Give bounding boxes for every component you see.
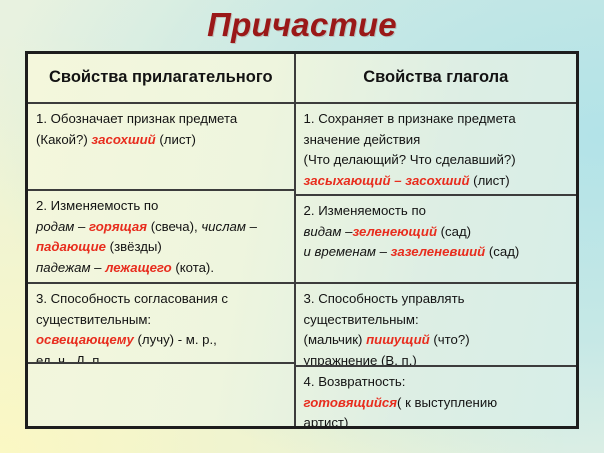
text-run: (мальчик) <box>304 332 367 347</box>
text-run: (Что делающий? Что сделавший?) <box>304 152 516 167</box>
text-line: видам –зеленеющий (сад) <box>304 222 570 243</box>
highlighted-term: лежащего <box>105 260 172 275</box>
text-run: 2. Изменяемость по <box>36 198 158 213</box>
text-run: (лист) <box>156 132 196 147</box>
text-line: готовящийся( к выступлению <box>304 393 570 414</box>
text-run: ед. ч., Д. п. <box>36 353 103 365</box>
text-run: ( к выступлению <box>397 395 497 410</box>
text-line: существительным: <box>36 310 288 331</box>
text-run: 4. Возвратность: <box>304 374 406 389</box>
text-line: 4. Возвратность: <box>304 372 570 393</box>
italic-term: видам – <box>304 224 353 239</box>
table-cell-adj-2: 2. Изменяемость породам – горящая (свеча… <box>28 191 294 284</box>
table-cell-verb-4: 4. Возвратность:готовящийся( к выступлен… <box>296 367 576 426</box>
text-run: существительным: <box>36 312 151 327</box>
column-header-adjective: Свойства прилагательного <box>28 54 294 104</box>
text-line: падающие (звёзды) <box>36 237 288 258</box>
table-column-verb: Свойства глагола 1. Сохраняет в признаке… <box>296 54 576 426</box>
page-title: Причастие <box>0 2 604 48</box>
highlighted-term: пишущий <box>366 332 430 347</box>
text-run: (лучу) - м. р., <box>134 332 217 347</box>
text-line: 2. Изменяемость по <box>304 201 570 222</box>
italic-term: числам – <box>201 219 257 234</box>
text-line: значение действия <box>304 130 570 151</box>
table-cell-adj-empty <box>28 364 294 426</box>
text-run: 3. Способность согласования с <box>36 291 228 306</box>
text-line: и временам – зазеленевший (сад) <box>304 242 570 263</box>
text-run: упражнение (В. п.) <box>304 353 417 368</box>
text-run: (сад) <box>437 224 471 239</box>
text-run: (лист) <box>470 173 510 188</box>
text-line: засыхающий – засохший (лист) <box>304 171 570 192</box>
properties-table: Свойства прилагательного 1. Обозначает п… <box>25 51 579 429</box>
highlighted-term: горящая <box>89 219 147 234</box>
text-run: (свеча), <box>147 219 201 234</box>
column-header-verb: Свойства глагола <box>296 54 576 104</box>
highlighted-term: засохший <box>91 132 155 147</box>
highlighted-term: готовящийся <box>304 395 397 410</box>
table-cell-verb-3: 3. Способность управлятьсуществительным:… <box>296 284 576 367</box>
text-run: артист) <box>304 415 349 426</box>
italic-term: падежам – <box>36 260 105 275</box>
text-line: (мальчик) пишущий (что?) <box>304 330 570 351</box>
table-cell-adj-1: 1. Обозначает признак предмета(Какой?) з… <box>28 104 294 191</box>
highlighted-term: освещающему <box>36 332 134 347</box>
text-run: 3. Способность управлять <box>304 291 465 306</box>
text-run: (кота). <box>172 260 214 275</box>
table-column-adjective: Свойства прилагательного 1. Обозначает п… <box>28 54 296 426</box>
text-line: (Какой?) засохший (лист) <box>36 130 288 151</box>
text-line: падежам – лежащего (кота). <box>36 258 288 279</box>
text-line: артист) <box>304 413 570 426</box>
table-cell-verb-1: 1. Сохраняет в признаке предметазначение… <box>296 104 576 196</box>
highlighted-term: засыхающий – засохший <box>304 173 470 188</box>
text-line: (Что делающий? Что сделавший?) <box>304 150 570 171</box>
italic-term: и временам – <box>304 244 391 259</box>
text-run: существительным: <box>304 312 419 327</box>
text-run: 1. Сохраняет в признаке предмета <box>304 111 516 126</box>
text-line: освещающему (лучу) - м. р., <box>36 330 288 351</box>
text-line: ед. ч., Д. п. <box>36 351 288 365</box>
highlighted-term: зазеленевший <box>391 244 486 259</box>
highlighted-term: зеленеющий <box>352 224 437 239</box>
text-run: 2. Изменяемость по <box>304 203 426 218</box>
text-run: (Какой?) <box>36 132 91 147</box>
text-line: существительным: <box>304 310 570 331</box>
highlighted-term: падающие <box>36 239 106 254</box>
text-run: (сад) <box>485 244 519 259</box>
text-line: 1. Сохраняет в признаке предмета <box>304 109 570 130</box>
text-line: 1. Обозначает признак предмета <box>36 109 288 130</box>
text-line: 3. Способность управлять <box>304 289 570 310</box>
text-run: (звёзды) <box>106 239 162 254</box>
text-line: 3. Способность согласования с <box>36 289 288 310</box>
text-line: родам – горящая (свеча), числам – <box>36 217 288 238</box>
text-run: (что?) <box>430 332 470 347</box>
text-line: упражнение (В. п.) <box>304 351 570 368</box>
italic-term: родам – <box>36 219 89 234</box>
text-run: значение действия <box>304 132 421 147</box>
text-run: 1. Обозначает признак предмета <box>36 111 237 126</box>
table-cell-verb-2: 2. Изменяемость повидам –зеленеющий (сад… <box>296 196 576 284</box>
text-line: 2. Изменяемость по <box>36 196 288 217</box>
table-cell-adj-3: 3. Способность согласования ссуществител… <box>28 284 294 364</box>
